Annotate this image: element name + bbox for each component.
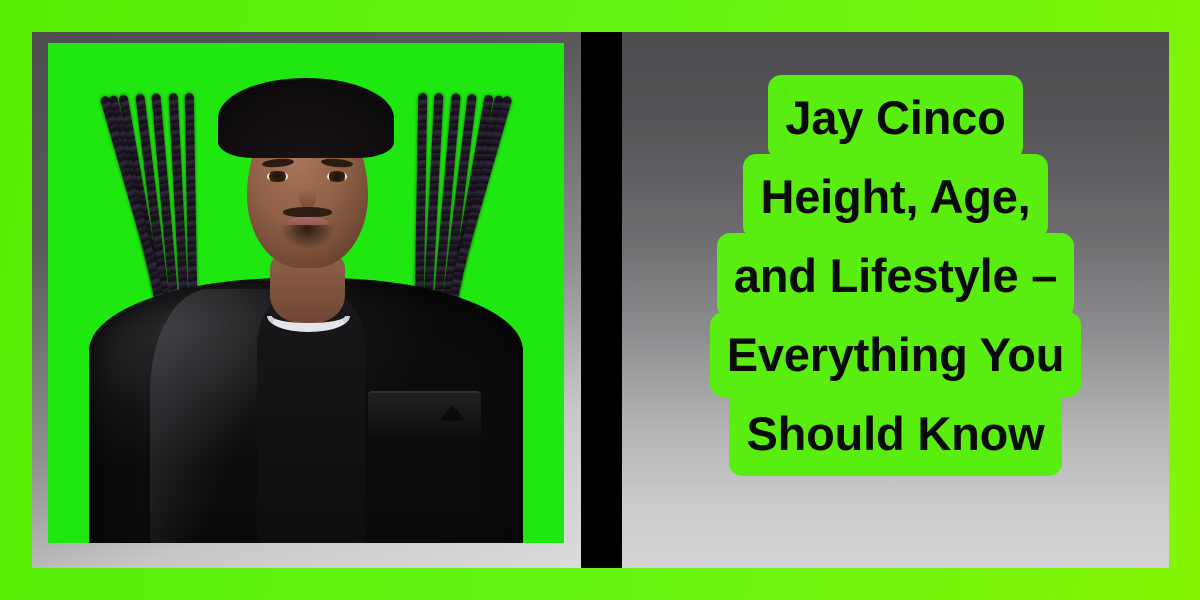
eyebrow-right xyxy=(320,158,352,169)
title-line: and Lifestyle – xyxy=(622,236,1169,315)
nose xyxy=(299,186,316,209)
title-line-text: Jay Cinco xyxy=(784,91,1006,144)
feature-graphic-canvas: Jay Cinco Height, Age, and Lifestyle – E… xyxy=(0,0,1200,600)
eyebrow-left xyxy=(262,158,294,169)
title-line: Jay Cinco xyxy=(622,78,1169,157)
moustache xyxy=(283,207,332,217)
title-line: Everything You xyxy=(622,315,1169,394)
title-line-text: and Lifestyle – xyxy=(733,249,1059,302)
beard xyxy=(276,225,339,265)
page-title: Jay Cinco Height, Age, and Lifestyle – E… xyxy=(622,78,1169,473)
eye-left xyxy=(267,171,288,183)
eye-right xyxy=(327,171,348,183)
black-vertical-bar xyxy=(581,32,622,568)
title-line-text: Everything You xyxy=(726,328,1066,381)
title-line-text: Height, Age, xyxy=(759,170,1031,223)
title-line-text: Should Know xyxy=(745,407,1045,460)
title-panel: Jay Cinco Height, Age, and Lifestyle – E… xyxy=(622,32,1169,568)
title-line: Should Know xyxy=(622,394,1169,473)
person-illustration xyxy=(48,43,564,543)
jacket-pocket xyxy=(368,393,482,438)
photo-frame xyxy=(32,32,582,568)
hairline xyxy=(218,78,393,158)
subject-photo xyxy=(48,43,564,543)
title-line: Height, Age, xyxy=(622,157,1169,236)
